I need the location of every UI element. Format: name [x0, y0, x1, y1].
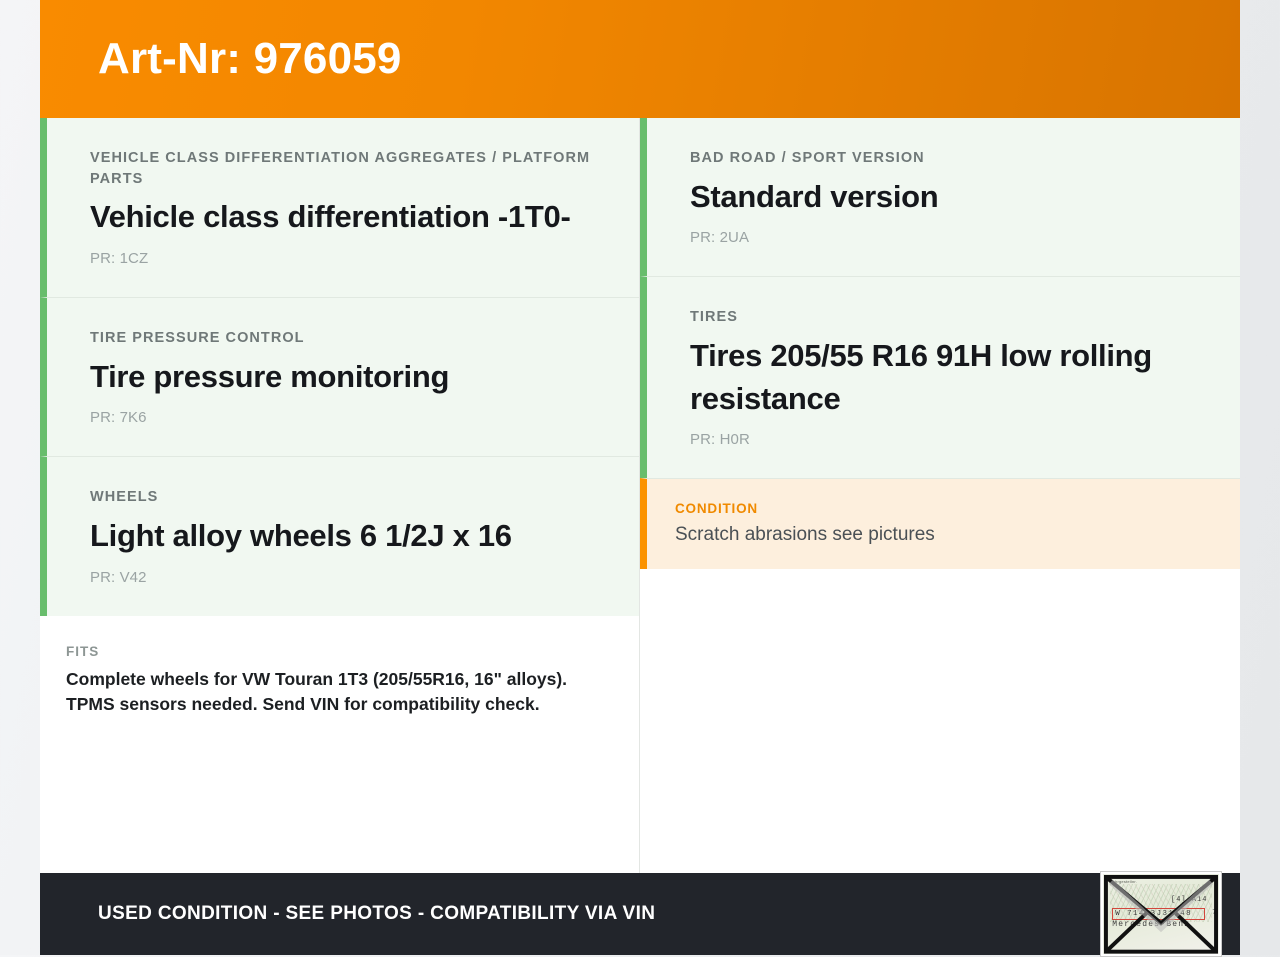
feature-pr-code: PR: 7K6	[90, 409, 609, 426]
fits-text: Complete wheels for VW Touran 1T3 (205/5…	[66, 667, 596, 718]
thumbnail-image: Fahrgestellnr. [4] A14 W 71463J31 48 7 M…	[1103, 874, 1219, 954]
header-bar: Art-Nr: 976059	[40, 0, 1240, 118]
footer-notice: USED CONDITION - SEE PHOTOS - COMPATIBIL…	[98, 903, 655, 925]
content-body: Vehicle class differentiation aggregates…	[40, 118, 1240, 873]
feature-label: Vehicle class differentiation aggregates…	[90, 148, 609, 189]
left-column-filler	[40, 744, 639, 873]
condition-label: Condition	[675, 499, 1210, 518]
broken-image-envelope-icon	[1103, 874, 1219, 954]
feature-pr-code: PR: H0R	[690, 431, 1210, 448]
feature-label: Bad road / Sport version	[690, 148, 1210, 169]
left-column: Vehicle class differentiation aggregates…	[40, 118, 640, 873]
page-title: Art-Nr: 976059	[98, 35, 402, 83]
feature-pr-code: PR: 1CZ	[90, 250, 609, 267]
feature-pr-code: PR: 2UA	[690, 229, 1210, 246]
right-column: Bad road / Sport version Standard versio…	[640, 118, 1240, 873]
feature-pr-code: PR: V42	[90, 569, 609, 586]
fits-section: Fits Complete wheels for VW Touran 1T3 (…	[40, 616, 639, 744]
feature-card-vehicle-class[interactable]: Vehicle class differentiation aggregates…	[40, 118, 639, 297]
feature-label: Wheels	[90, 487, 609, 508]
feature-card-tires[interactable]: Tires Tires 205/55 R16 91H low rolling r…	[640, 276, 1240, 478]
product-info-card: Art-Nr: 976059 Vehicle class differentia…	[40, 0, 1240, 955]
feature-title: Vehicle class differentiation -1T0-	[90, 196, 609, 239]
feature-title: Standard version	[690, 176, 1210, 219]
feature-title: Tire pressure monitoring	[90, 356, 609, 399]
feature-label: Tires	[690, 307, 1210, 328]
feature-title: Light alloy wheels 6 1/2J x 16	[90, 515, 609, 558]
feature-card-bad-road-sport-version[interactable]: Bad road / Sport version Standard versio…	[640, 118, 1240, 276]
condition-card[interactable]: Condition Scratch abrasions see pictures	[640, 478, 1240, 569]
feature-card-tire-pressure[interactable]: Tire pressure control Tire pressure moni…	[40, 297, 639, 456]
feature-label: Tire pressure control	[90, 328, 609, 349]
footer-bar: USED CONDITION - SEE PHOTOS - COMPATIBIL…	[40, 873, 1240, 955]
right-column-filler	[640, 569, 1240, 873]
fits-label: Fits	[66, 644, 609, 659]
feature-title: Tires 205/55 R16 91H low rolling resista…	[690, 335, 1210, 421]
condition-text: Scratch abrasions see pictures	[675, 523, 1210, 548]
vehicle-registration-document-thumbnail[interactable]: Fahrgestellnr. [4] A14 W 71463J31 48 7 M…	[1100, 871, 1222, 957]
feature-card-wheels[interactable]: Wheels Light alloy wheels 6 1/2J x 16 PR…	[40, 456, 639, 615]
